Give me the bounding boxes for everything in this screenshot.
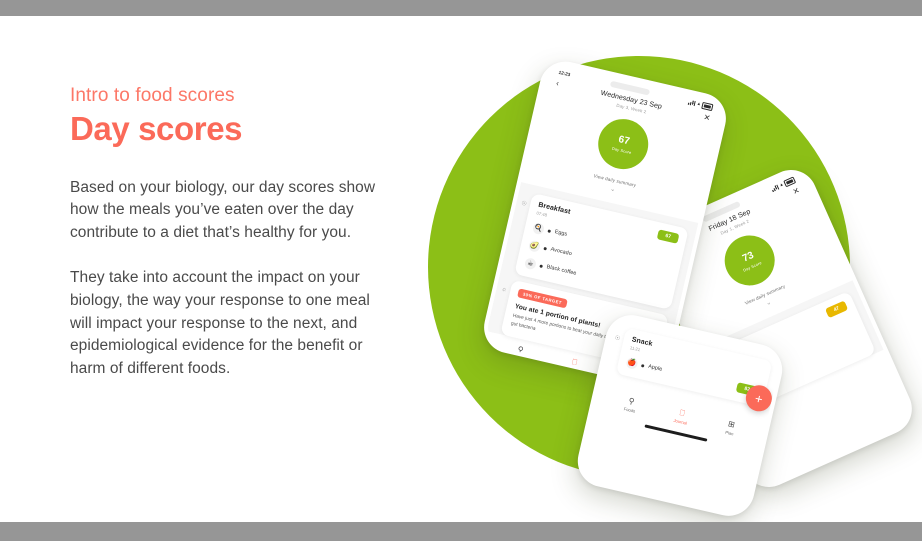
food-thumb-icon: ☕ xyxy=(524,257,537,270)
chevron-down-icon[interactable]: ⌄ xyxy=(765,300,772,308)
food-name: Eggs xyxy=(554,229,568,238)
day-score-circle: 73 Day Score xyxy=(717,228,783,294)
tab-plan[interactable]: ⊞ Plan xyxy=(725,420,737,437)
phone-3-screen: ☉ Snack 11:21 🍎 Apple 82 + xyxy=(577,315,782,516)
slide-eyebrow: Intro to food scores xyxy=(70,84,380,108)
tab-foods[interactable]: ⚲ Foods xyxy=(623,397,638,414)
day-score-value: 67 xyxy=(617,135,630,147)
signal-icon xyxy=(688,100,696,106)
tab-label: Plan xyxy=(725,430,734,437)
food-thumb-icon: 🍳 xyxy=(532,222,545,235)
slide-copy: Intro to food scores Day scores Based on… xyxy=(70,84,380,381)
page-title: Day scores xyxy=(70,110,380,148)
bottom-band xyxy=(0,522,922,541)
plan-icon: ⊞ xyxy=(727,420,735,429)
daily-summary-link[interactable]: View daily summary xyxy=(593,173,636,188)
slide-paragraph-2: They take into account the impact on you… xyxy=(70,267,380,381)
snack-icon: ☉ xyxy=(614,334,621,342)
food-bullet-icon xyxy=(548,229,552,233)
chevron-left-icon[interactable]: ‹ xyxy=(555,79,559,87)
food-name: Black coffee xyxy=(546,264,577,277)
top-band xyxy=(0,0,922,16)
day-score-label: Day Score xyxy=(612,145,633,154)
artwork: 10:05 ▴ ‹ Friday 18 Sep ✕ Day 1, Week 2 … xyxy=(400,16,922,522)
wifi-icon: ▴ xyxy=(779,182,783,188)
food-name: Apple xyxy=(648,364,663,373)
breakfast-icon: ☉ xyxy=(521,200,528,208)
food-bullet-icon xyxy=(543,247,547,251)
search-icon: ⚲ xyxy=(628,397,636,406)
journal-icon: ⎕ xyxy=(571,358,577,367)
food-name: Avocado xyxy=(550,247,572,258)
lightbulb-icon: ☼ xyxy=(501,286,508,293)
day-score-circle: 67 Day Score xyxy=(593,114,653,174)
tab-journal[interactable]: ⎕ Journal xyxy=(673,408,690,426)
food-bullet-icon xyxy=(539,264,543,268)
tab-label: Foods xyxy=(623,406,635,413)
meal-score-badge: 47 xyxy=(825,301,848,319)
food-thumb-icon: 🥑 xyxy=(528,239,541,252)
wifi-icon: ▴ xyxy=(697,102,701,107)
slide-paragraph-1: Based on your biology, our day scores sh… xyxy=(70,177,380,245)
search-icon: ⚲ xyxy=(517,345,525,354)
tab-label: Journal xyxy=(673,418,688,426)
food-thumb-icon: 🍎 xyxy=(626,356,639,369)
close-icon[interactable]: ✕ xyxy=(703,113,711,122)
food-bullet-icon xyxy=(641,364,645,368)
chevron-down-icon[interactable]: ⌄ xyxy=(610,186,616,193)
meal-score-badge: 67 xyxy=(657,229,680,243)
journal-icon: ⎕ xyxy=(679,409,685,418)
